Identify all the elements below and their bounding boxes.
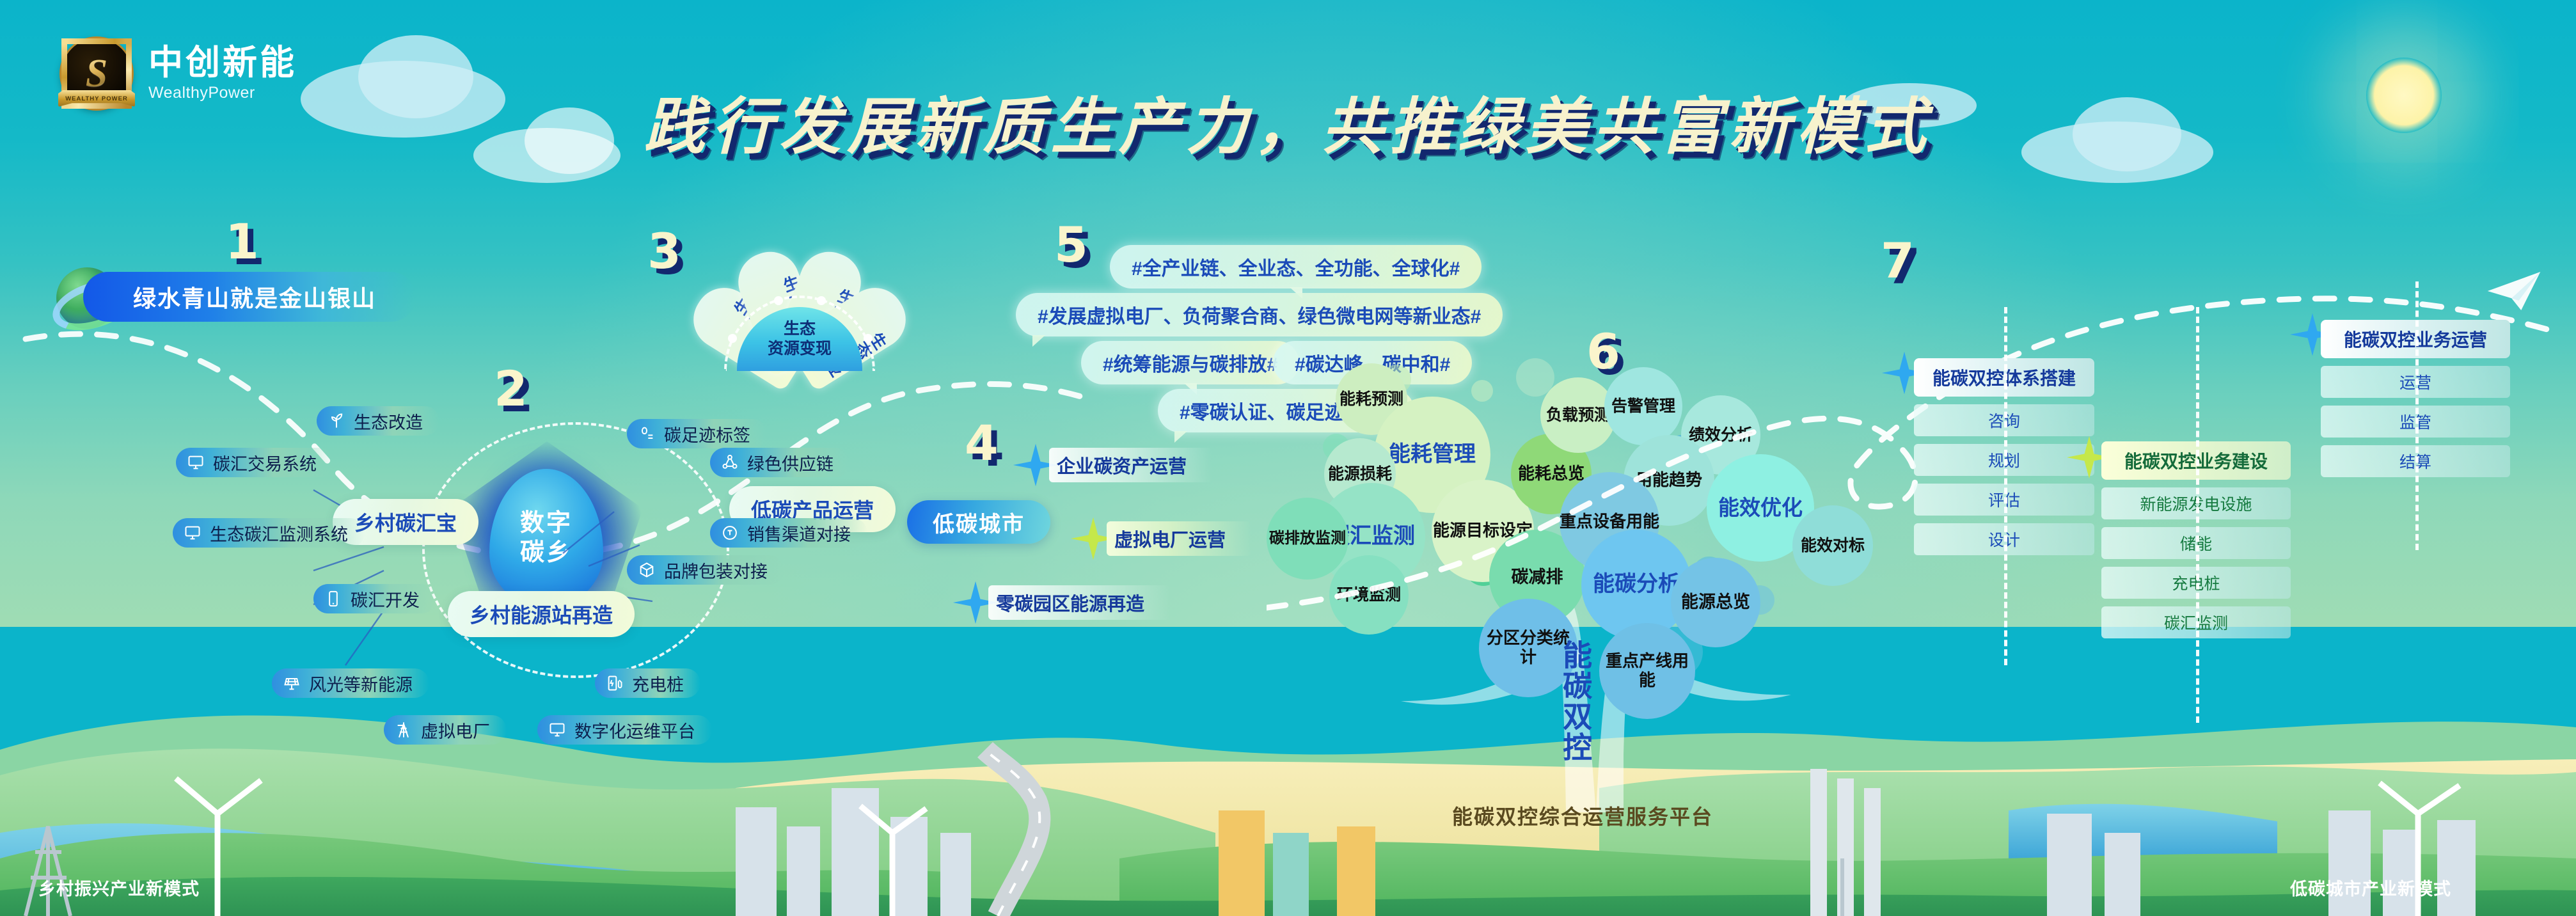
label-text: 充电桩 bbox=[632, 671, 684, 696]
bubble-energy-carbon-coordination[interactable]: #统筹能源与碳排放# bbox=[1081, 341, 1299, 384]
label-text: 生态碳汇监测系统 bbox=[210, 521, 348, 546]
label-text: 绿色供应链 bbox=[747, 450, 834, 475]
fan-core-line2: 资源变现 bbox=[768, 339, 832, 359]
tree-node-alarm-management[interactable]: 告警管理 bbox=[1604, 367, 1682, 445]
label-virtual-power-plant[interactable]: 虚拟电厂 bbox=[384, 715, 507, 745]
badge-ribbon-label: WEALTHY POWER bbox=[58, 90, 135, 107]
section6-energy-tree: 能耗预测 能耗管理 能源损耗 碳汇监测 碳排放监测 环境监测 能源目标设定 碳减… bbox=[1305, 358, 1881, 806]
label-text: 虚拟电厂 bbox=[421, 718, 490, 743]
label-text: 品牌包装对接 bbox=[664, 558, 768, 583]
sales-icon bbox=[720, 523, 739, 542]
label-green-supply-chain[interactable]: 绿色供应链 bbox=[710, 448, 850, 477]
tree-node-efficiency-benchmark[interactable]: 能效对标 bbox=[1792, 505, 1873, 586]
label-text: 碳足迹标签 bbox=[664, 422, 750, 446]
footer-left-label: 乡村振兴产业新模式 bbox=[38, 875, 200, 900]
supply-chain-icon bbox=[720, 453, 739, 472]
mobile-icon bbox=[324, 589, 343, 608]
cloud-decoration bbox=[358, 35, 473, 118]
footer-right-label: 低碳城市产业新模式 bbox=[2290, 875, 2451, 900]
fan-node-dot bbox=[774, 296, 783, 305]
label-ecological-renovation[interactable]: 生态改造 bbox=[317, 406, 439, 436]
section4-banner[interactable]: 低碳城市 bbox=[907, 500, 1050, 544]
monitor-icon bbox=[186, 453, 205, 472]
cloud-decoration bbox=[2073, 97, 2181, 171]
tree-node-key-line-energy[interactable]: 重点产线用能 bbox=[1599, 623, 1695, 719]
bubble-full-industry-chain[interactable]: #全产业链、全业态、全功能、全球化# bbox=[1110, 245, 1482, 288]
footprint-co2-icon bbox=[637, 424, 656, 443]
tree-node-load-forecast[interactable]: 负载预测 bbox=[1540, 377, 1616, 453]
label-charging-pile[interactable]: 充电桩 bbox=[595, 668, 700, 698]
label-eco-carbon-monitor-system[interactable]: 生态碳汇监测系统 bbox=[173, 518, 365, 548]
step-number-2: 2 bbox=[494, 365, 528, 413]
tree-node-carbon-emission-monitor[interactable]: 碳排放监测 bbox=[1267, 498, 1348, 580]
page-title: 践行发展新质生产力，共推绿美共富新模式 bbox=[644, 77, 1932, 166]
paper-plane-icon bbox=[2485, 269, 2543, 313]
package-icon bbox=[637, 560, 656, 580]
label-enterprise-carbon-asset[interactable]: 企业碳资产运营 bbox=[1049, 448, 1212, 482]
label-zero-carbon-park[interactable]: 零碳园区能源再造 bbox=[988, 585, 1170, 620]
infographic-canvas: S WEALTHY POWER 中创新能 WealthyPower 践行发展新质… bbox=[0, 0, 2576, 916]
step-number-3: 3 bbox=[647, 227, 681, 276]
footer-center-label: 能碳双控综合运营服务平台 bbox=[1452, 801, 1713, 830]
label-digital-ops-platform[interactable]: 数字化运维平台 bbox=[537, 715, 712, 745]
label-carbon-trading-system[interactable]: 碳汇交易系统 bbox=[176, 448, 333, 477]
section3-fan-diagram: 生态旅游 生态农业 生态保护 生态产业 生态 资源变现 bbox=[678, 227, 921, 371]
wealthypower-badge-icon: S WEALTHY POWER bbox=[61, 38, 132, 109]
brand-name-en: WealthyPower bbox=[148, 84, 297, 102]
power-tower-icon bbox=[394, 720, 413, 739]
cloud-decoration bbox=[525, 107, 614, 174]
fan-node-dot bbox=[728, 334, 737, 343]
fan-node-dot bbox=[817, 296, 826, 305]
brand-logo: S WEALTHY POWER 中创新能 WealthyPower bbox=[61, 38, 297, 109]
panel-spine-dashed bbox=[2196, 307, 2199, 723]
core-line1: 数字 bbox=[520, 509, 573, 539]
bubble-new-formats[interactable]: #发展虚拟电厂、负荷聚合商、绿色微电网等新业态# bbox=[1016, 293, 1503, 336]
label-carbon-footprint-label[interactable]: 碳足迹标签 bbox=[627, 419, 767, 448]
panel-spine-dashed bbox=[2415, 281, 2419, 550]
tree-trunk-label: 能碳双控 bbox=[1553, 640, 1598, 770]
tree-node-energy-summary[interactable]: 能源总览 bbox=[1671, 558, 1760, 647]
panel-spine-dashed bbox=[2004, 307, 2007, 665]
step-number-7: 7 bbox=[1881, 237, 1915, 285]
core-line2: 碳乡 bbox=[520, 539, 573, 568]
bokeh-decoration bbox=[1471, 380, 1493, 402]
label-brand-packaging[interactable]: 品牌包装对接 bbox=[627, 555, 784, 585]
monitor-icon bbox=[183, 523, 202, 542]
fan-core-line1: 生态 bbox=[784, 319, 816, 339]
section2-hub-village-energy[interactable]: 乡村能源站再造 bbox=[448, 591, 635, 637]
label-wind-solar-new-energy[interactable]: 风光等新能源 bbox=[272, 668, 429, 698]
label-text: 风光等新能源 bbox=[309, 671, 413, 696]
label-carbon-sink-development[interactable]: 碳汇开发 bbox=[313, 584, 436, 613]
badge-monogram: S bbox=[86, 51, 107, 97]
step-number-4: 4 bbox=[965, 419, 999, 468]
plant-icon bbox=[327, 411, 346, 430]
section1-banner: 绿水青山就是金山银山 bbox=[83, 272, 416, 322]
monitor-icon bbox=[548, 720, 567, 739]
charging-pile-icon bbox=[605, 674, 624, 693]
tree-node-environment-monitor[interactable]: 环境监测 bbox=[1329, 555, 1409, 635]
label-sales-channel[interactable]: 销售渠道对接 bbox=[710, 518, 867, 548]
label-text: 销售渠道对接 bbox=[747, 521, 851, 546]
solar-panel-icon bbox=[282, 674, 301, 693]
label-text: 碳汇开发 bbox=[351, 587, 420, 612]
sun-icon bbox=[2366, 58, 2442, 133]
label-text: 碳汇交易系统 bbox=[213, 450, 317, 475]
label-text: 生态改造 bbox=[354, 409, 423, 434]
brand-name-cn: 中创新能 bbox=[148, 45, 297, 81]
step-number-5: 5 bbox=[1054, 221, 1088, 269]
fan-node-dot bbox=[864, 334, 873, 343]
step-number-1: 1 bbox=[225, 217, 259, 266]
label-vpp-operation[interactable]: 虚拟电厂运营 bbox=[1107, 521, 1251, 556]
label-text: 数字化运维平台 bbox=[574, 718, 695, 743]
